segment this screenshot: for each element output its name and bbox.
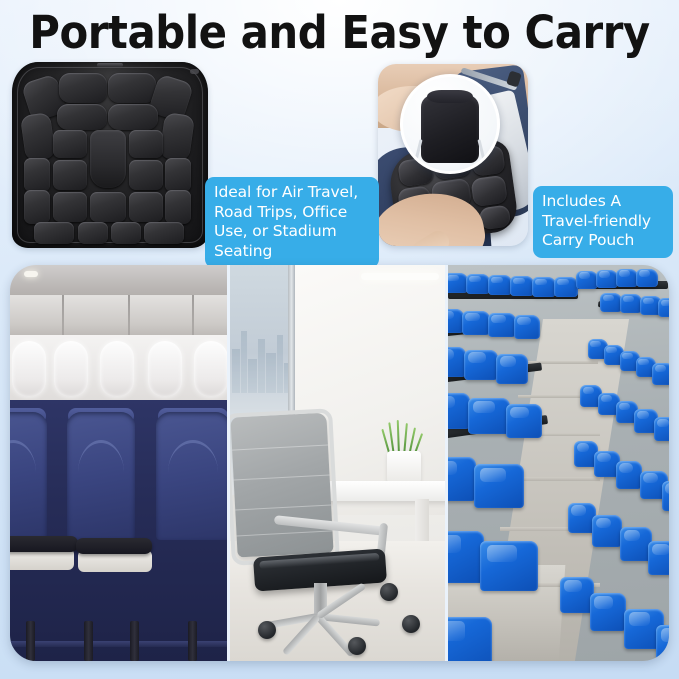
airplane-seats xyxy=(10,400,227,661)
city-skyline xyxy=(232,293,290,393)
cushion-hang-tab xyxy=(97,63,123,67)
use-case-panels: Airplane xyxy=(10,265,669,661)
cabin-window xyxy=(148,341,182,397)
callout-use-cases: Ideal for Air Travel, Road Trips, Office… xyxy=(205,177,379,268)
drawstring-pouch xyxy=(421,95,479,163)
cabin-window xyxy=(100,341,134,397)
callout-carry-pouch: Includes A Travel-friendly Carry Pouch xyxy=(533,186,673,258)
seat-armrest xyxy=(76,538,152,554)
drawstring-pouch-inset xyxy=(400,74,500,174)
seat-armrest xyxy=(10,536,78,552)
office-desk xyxy=(319,481,448,501)
cabin-window xyxy=(54,341,88,397)
chair-frame xyxy=(227,408,340,565)
top-feature-row: Ideal for Air Travel, Road Trips, Office… xyxy=(0,62,679,252)
thumb xyxy=(408,227,454,246)
panel-sports: Sports Events xyxy=(448,265,669,661)
cushion-air-valve xyxy=(190,69,199,74)
panel-office: Office xyxy=(227,265,448,661)
chair-caster xyxy=(348,637,366,655)
chair-base xyxy=(260,609,400,623)
ceiling-light xyxy=(361,273,439,280)
cabin-window xyxy=(12,341,46,397)
panel-airplane: Airplane xyxy=(10,265,227,661)
product-image-cushion xyxy=(12,62,208,248)
cabin-light xyxy=(24,271,38,277)
chair-caster xyxy=(380,583,398,601)
carry-pouch-photo xyxy=(378,64,528,246)
chair-caster xyxy=(402,615,420,633)
page-title: Portable and Easy to Carry xyxy=(24,7,655,59)
cabin-window xyxy=(194,341,227,397)
chair-caster xyxy=(258,621,276,639)
cushion-body xyxy=(12,62,208,248)
